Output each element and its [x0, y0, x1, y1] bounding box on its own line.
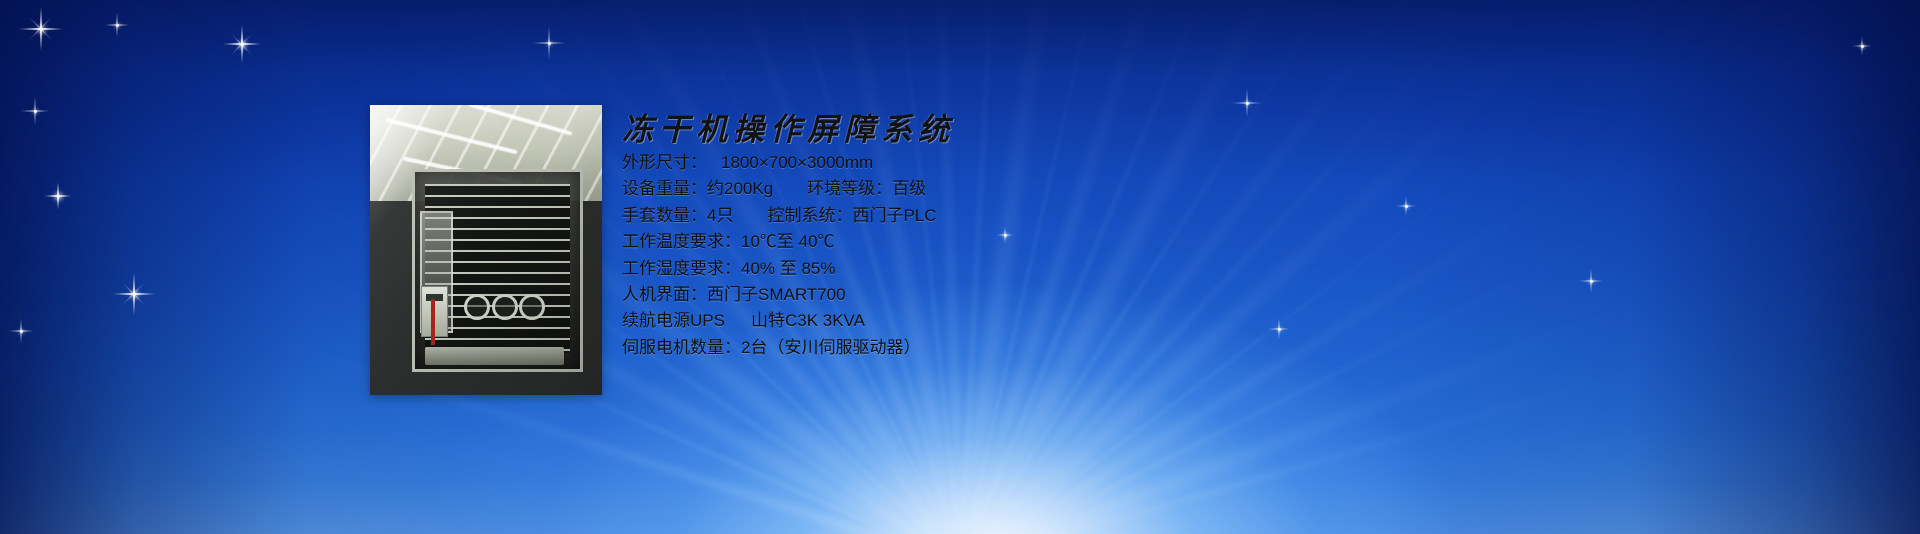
spec-row-work-temperature: 工作温度要求：10℃至 40℃ [622, 229, 1322, 255]
spec-value: 约200Kg [707, 179, 773, 198]
spec-value: 10℃至 40℃ [741, 232, 835, 251]
product-photo [370, 105, 602, 395]
spec-label: 手套数量： [622, 206, 707, 225]
spec-row-ups: 续航电源UPS山特C3K 3KVA [622, 308, 1322, 334]
page-title: 冻干机操作屏障系统 [622, 104, 955, 149]
spec-value: 1800×700×3000mm [721, 153, 873, 172]
spec-label: 设备重量： [622, 179, 707, 198]
spec-value: 4只 [707, 206, 733, 225]
spec-label: 工作湿度要求： [622, 259, 741, 278]
spec-value-secondary: 百级 [892, 179, 926, 198]
spec-value: 西门子SMART700 [707, 285, 846, 304]
spec-row-servo-motors: 伺服电机数量：2台（安川伺服驱动器） [622, 335, 1322, 361]
spec-row-gloves-and-control: 手套数量：4只控制系统：西门子PLC [622, 203, 1322, 229]
product-banner: 冻干机操作屏障系统 外形尺寸：1800×700×3000mm 设备重量：约200… [0, 0, 1920, 534]
spec-value: 2台（安川伺服驱动器） [741, 338, 920, 357]
spec-row-hmi: 人机界面：西门子SMART700 [622, 282, 1322, 308]
spec-label: 人机界面： [622, 285, 707, 304]
spec-value: 40% 至 85% [741, 259, 836, 278]
spec-list: 外形尺寸：1800×700×3000mm 设备重量：约200Kg环境等级：百级 … [622, 150, 1322, 361]
spec-row-weight-and-grade: 设备重量：约200Kg环境等级：百级 [622, 176, 1322, 202]
spec-label: 伺服电机数量： [622, 338, 741, 357]
spec-label: 外形尺寸： [622, 153, 707, 172]
spec-value: 山特C3K 3KVA [751, 311, 865, 330]
spec-value-secondary: 西门子PLC [852, 206, 936, 225]
spec-label-secondary: 环境等级： [807, 179, 892, 198]
spec-label-secondary: 控制系统： [767, 206, 852, 225]
banner-content: 冻干机操作屏障系统 外形尺寸：1800×700×3000mm 设备重量：约200… [0, 0, 1920, 534]
photo-gloss-overlay [370, 105, 602, 395]
spec-label: 续航电源UPS [622, 311, 725, 330]
spec-row-work-humidity: 工作湿度要求：40% 至 85% [622, 256, 1322, 282]
spec-row-dimensions: 外形尺寸：1800×700×3000mm [622, 150, 1322, 176]
spec-label: 工作温度要求： [622, 232, 741, 251]
